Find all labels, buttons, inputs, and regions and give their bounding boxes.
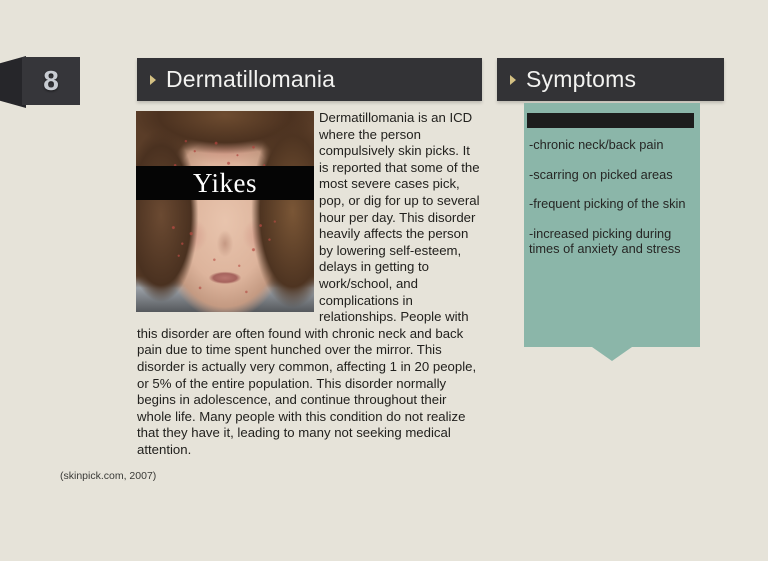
photo-censor-bar: Yikes [136,166,314,200]
symptoms-callout-box: -chronic neck/back pain -scarring on pic… [524,103,700,347]
redacted-line-bar [527,113,694,128]
triangle-bullet-icon [150,75,156,85]
page-number-label: 8 [43,67,59,95]
callout-tail-shape [592,347,632,361]
symptoms-title-bar: Symptoms [497,58,724,101]
list-item: -chronic neck/back pain [529,137,695,153]
censor-label: Yikes [193,170,257,197]
symptoms-list: -chronic neck/back pain -scarring on pic… [529,137,695,271]
page-number-badge: 8 [0,56,82,108]
slide-canvas: 8 Dermatillomania Symptoms Dermatilloman… [0,0,768,561]
list-item: -scarring on picked areas [529,167,695,183]
citation-label: (skinpick.com, 2007) [60,470,156,483]
list-item: -increased picking during times of anxie… [529,226,695,257]
main-title-bar: Dermatillomania [137,58,482,101]
face-photo: Yikes [136,111,314,312]
badge-square: 8 [22,57,80,105]
main-title-label: Dermatillomania [166,66,335,93]
photo-acne-texture [136,111,314,312]
triangle-bullet-icon [510,75,516,85]
symptoms-title-label: Symptoms [526,66,636,93]
list-item: -frequent picking of the skin [529,196,695,212]
